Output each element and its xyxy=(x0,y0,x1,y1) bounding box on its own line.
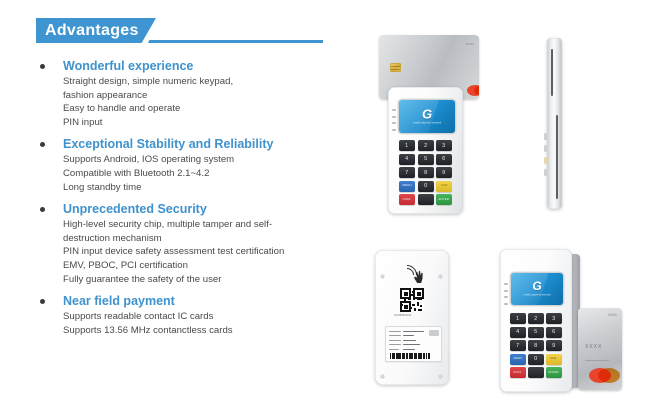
advantage-section: Unprecedented Security High-level securi… xyxy=(36,201,346,286)
key-8[interactable]: 8 xyxy=(528,340,544,351)
card-brand-text: BANK xyxy=(466,42,474,46)
mastercard-logo-icon xyxy=(467,85,479,96)
status-leds xyxy=(504,283,508,305)
side-button-strip[interactable] xyxy=(544,145,548,152)
advantages-panel: Advantages Wonderful experience Straight… xyxy=(36,18,346,344)
advantage-detail-line: PIN input xyxy=(63,116,346,130)
key-4[interactable]: 4 xyxy=(399,154,415,165)
card-number-text: XXXX xyxy=(585,344,602,350)
advantage-detail-list: Supports readable contact IC cards Suppo… xyxy=(63,309,346,337)
product-image-group: BANK G mobile payment terminal xyxy=(350,0,650,401)
banner-underline xyxy=(148,18,323,43)
bullet-icon xyxy=(40,207,45,212)
qr-caption: SN:384932192 xyxy=(394,314,411,317)
key-1[interactable]: 1 xyxy=(510,313,526,324)
advantage-detail-line: Straight design, simple numeric keypad, xyxy=(63,75,346,89)
terminal-angle-body: G mobile payment terminal 1 2 3 4 5 6 7 … xyxy=(500,249,572,392)
certification-mark-icon xyxy=(429,330,439,336)
side-button-strip[interactable] xyxy=(544,157,548,164)
mastercard-logo-icon xyxy=(589,368,611,383)
advantage-detail-list: High-level security chip, multiple tampe… xyxy=(63,217,346,286)
card-reader-slot xyxy=(556,115,558,199)
brand-logo-icon: G xyxy=(532,279,541,293)
advantage-detail-line: fashion appearance xyxy=(63,89,346,103)
terminal-screen[interactable]: G mobile payment terminal xyxy=(399,100,455,133)
advantage-detail-line: Fully guarantee the safety of the user xyxy=(63,273,346,287)
screen-glare xyxy=(399,100,440,133)
advantage-heading-row: Unprecedented Security xyxy=(36,201,346,217)
card-brand-text: BANK xyxy=(608,313,617,317)
advantage-heading-row: Wonderful experience xyxy=(36,58,346,74)
advantage-heading-row: Exceptional Stability and Reliability xyxy=(36,136,346,152)
terminal-body: G mobile payment terminal 1 2 3 4 5 6 7 … xyxy=(388,87,463,214)
card-name-line xyxy=(585,360,609,361)
advantage-title: Exceptional Stability and Reliability xyxy=(63,136,273,152)
key-blank[interactable] xyxy=(528,367,544,378)
product-side-device xyxy=(538,38,572,213)
key-enter[interactable]: ENTER xyxy=(546,367,562,378)
nfc-contactless-icon xyxy=(401,266,425,283)
brand-tagline: mobile payment terminal xyxy=(523,294,550,297)
side-button-strip[interactable] xyxy=(544,133,548,140)
page-title: Advantages xyxy=(36,22,139,40)
terminal-keypad[interactable]: 1 2 3 4 5 6 7 8 9 MENU 0 CLR CNCL ENTER xyxy=(510,313,564,378)
key-clear[interactable]: CLR xyxy=(436,181,452,192)
key-4[interactable]: 4 xyxy=(510,327,526,338)
bullet-icon xyxy=(40,64,45,69)
advantage-detail-line: Supports 13.56 MHz contanctless cards xyxy=(63,324,346,338)
terminal-keypad[interactable]: 1 2 3 4 5 6 7 8 9 MENU 0 CLR CNCL ENTER xyxy=(399,140,454,205)
product-back-device: SN:384932192 xyxy=(375,250,465,390)
terminal-screen[interactable]: G mobile payment terminal xyxy=(511,273,563,305)
card-swipe-slot xyxy=(551,49,553,96)
key-6[interactable]: 6 xyxy=(436,154,452,165)
advantage-detail-line: Easy to handle and operate xyxy=(63,102,346,116)
advantage-title: Unprecedented Security xyxy=(63,201,207,217)
product-front-device: BANK G mobile payment terminal xyxy=(370,32,500,217)
section-banner: Advantages xyxy=(36,18,346,48)
side-button-strip[interactable] xyxy=(544,169,548,176)
advantage-detail-line: Long standby time xyxy=(63,181,346,195)
advantage-heading-row: Near field payment xyxy=(36,293,346,309)
product-angle-device: G mobile payment terminal 1 2 3 4 5 6 7 … xyxy=(490,248,650,394)
advantage-detail-line: Supports Android, IOS operating system xyxy=(63,153,346,167)
advantage-detail-line: Compatible with Bluetooth 2.1~4.2 xyxy=(63,167,346,181)
key-clear[interactable]: CLR xyxy=(546,354,562,365)
advantage-detail-line: PIN input device safety assessment test … xyxy=(63,245,346,259)
key-9[interactable]: 9 xyxy=(546,340,562,351)
advantage-section: Near field payment Supports readable con… xyxy=(36,293,346,337)
brand-logo-icon: G xyxy=(422,106,432,121)
key-5[interactable]: 5 xyxy=(418,154,434,165)
key-menu[interactable]: MENU xyxy=(510,354,526,365)
terminal-side-body xyxy=(547,38,562,209)
key-1[interactable]: 1 xyxy=(399,140,415,151)
key-7[interactable]: 7 xyxy=(510,340,526,351)
swiped-card: BANK XXXX xyxy=(578,308,622,390)
screen-glare xyxy=(511,273,550,305)
advantage-title: Wonderful experience xyxy=(63,58,193,74)
key-enter[interactable]: ENTER xyxy=(436,194,452,205)
advantage-detail-list: Straight design, simple numeric keypad, … xyxy=(63,74,346,129)
advantage-title: Near field payment xyxy=(63,293,175,309)
slide-root: Advantages Wonderful experience Straight… xyxy=(0,0,650,401)
key-2[interactable]: 2 xyxy=(418,140,434,151)
key-blank[interactable] xyxy=(418,194,434,205)
key-8[interactable]: 8 xyxy=(418,167,434,178)
qr-code-icon xyxy=(400,288,424,312)
key-cancel[interactable]: CNCL xyxy=(399,194,415,205)
bullet-icon xyxy=(40,299,45,304)
key-5[interactable]: 5 xyxy=(528,327,544,338)
key-2[interactable]: 2 xyxy=(528,313,544,324)
advantage-section: Wonderful experience Straight design, si… xyxy=(36,58,346,129)
key-7[interactable]: 7 xyxy=(399,167,415,178)
spec-label xyxy=(385,326,442,362)
advantage-detail-list: Supports Android, IOS operating system C… xyxy=(63,152,346,194)
key-9[interactable]: 9 xyxy=(436,167,452,178)
banner-block: Advantages xyxy=(36,18,156,43)
advantage-detail-line: Supports readable contact IC cards xyxy=(63,310,346,324)
key-0[interactable]: 0 xyxy=(418,181,434,192)
bullet-icon xyxy=(40,142,45,147)
brand-tagline: mobile payment terminal xyxy=(413,122,441,125)
key-3[interactable]: 3 xyxy=(436,140,452,151)
key-menu[interactable]: MENU xyxy=(399,181,415,192)
advantage-detail-line: High-level security chip, multiple tampe… xyxy=(63,218,346,232)
key-3[interactable]: 3 xyxy=(546,313,562,324)
advantage-section: Exceptional Stability and Reliability Su… xyxy=(36,136,346,194)
advantage-detail-line: destruction mechanism xyxy=(63,232,346,246)
barcode-icon xyxy=(390,353,437,359)
key-6[interactable]: 6 xyxy=(546,327,562,338)
key-cancel[interactable]: CNCL xyxy=(510,367,526,378)
emv-chip-icon xyxy=(390,63,401,72)
key-0[interactable]: 0 xyxy=(528,354,544,365)
status-leds xyxy=(392,109,396,131)
advantage-detail-line: EMV, PBOC, PCI certification xyxy=(63,259,346,273)
